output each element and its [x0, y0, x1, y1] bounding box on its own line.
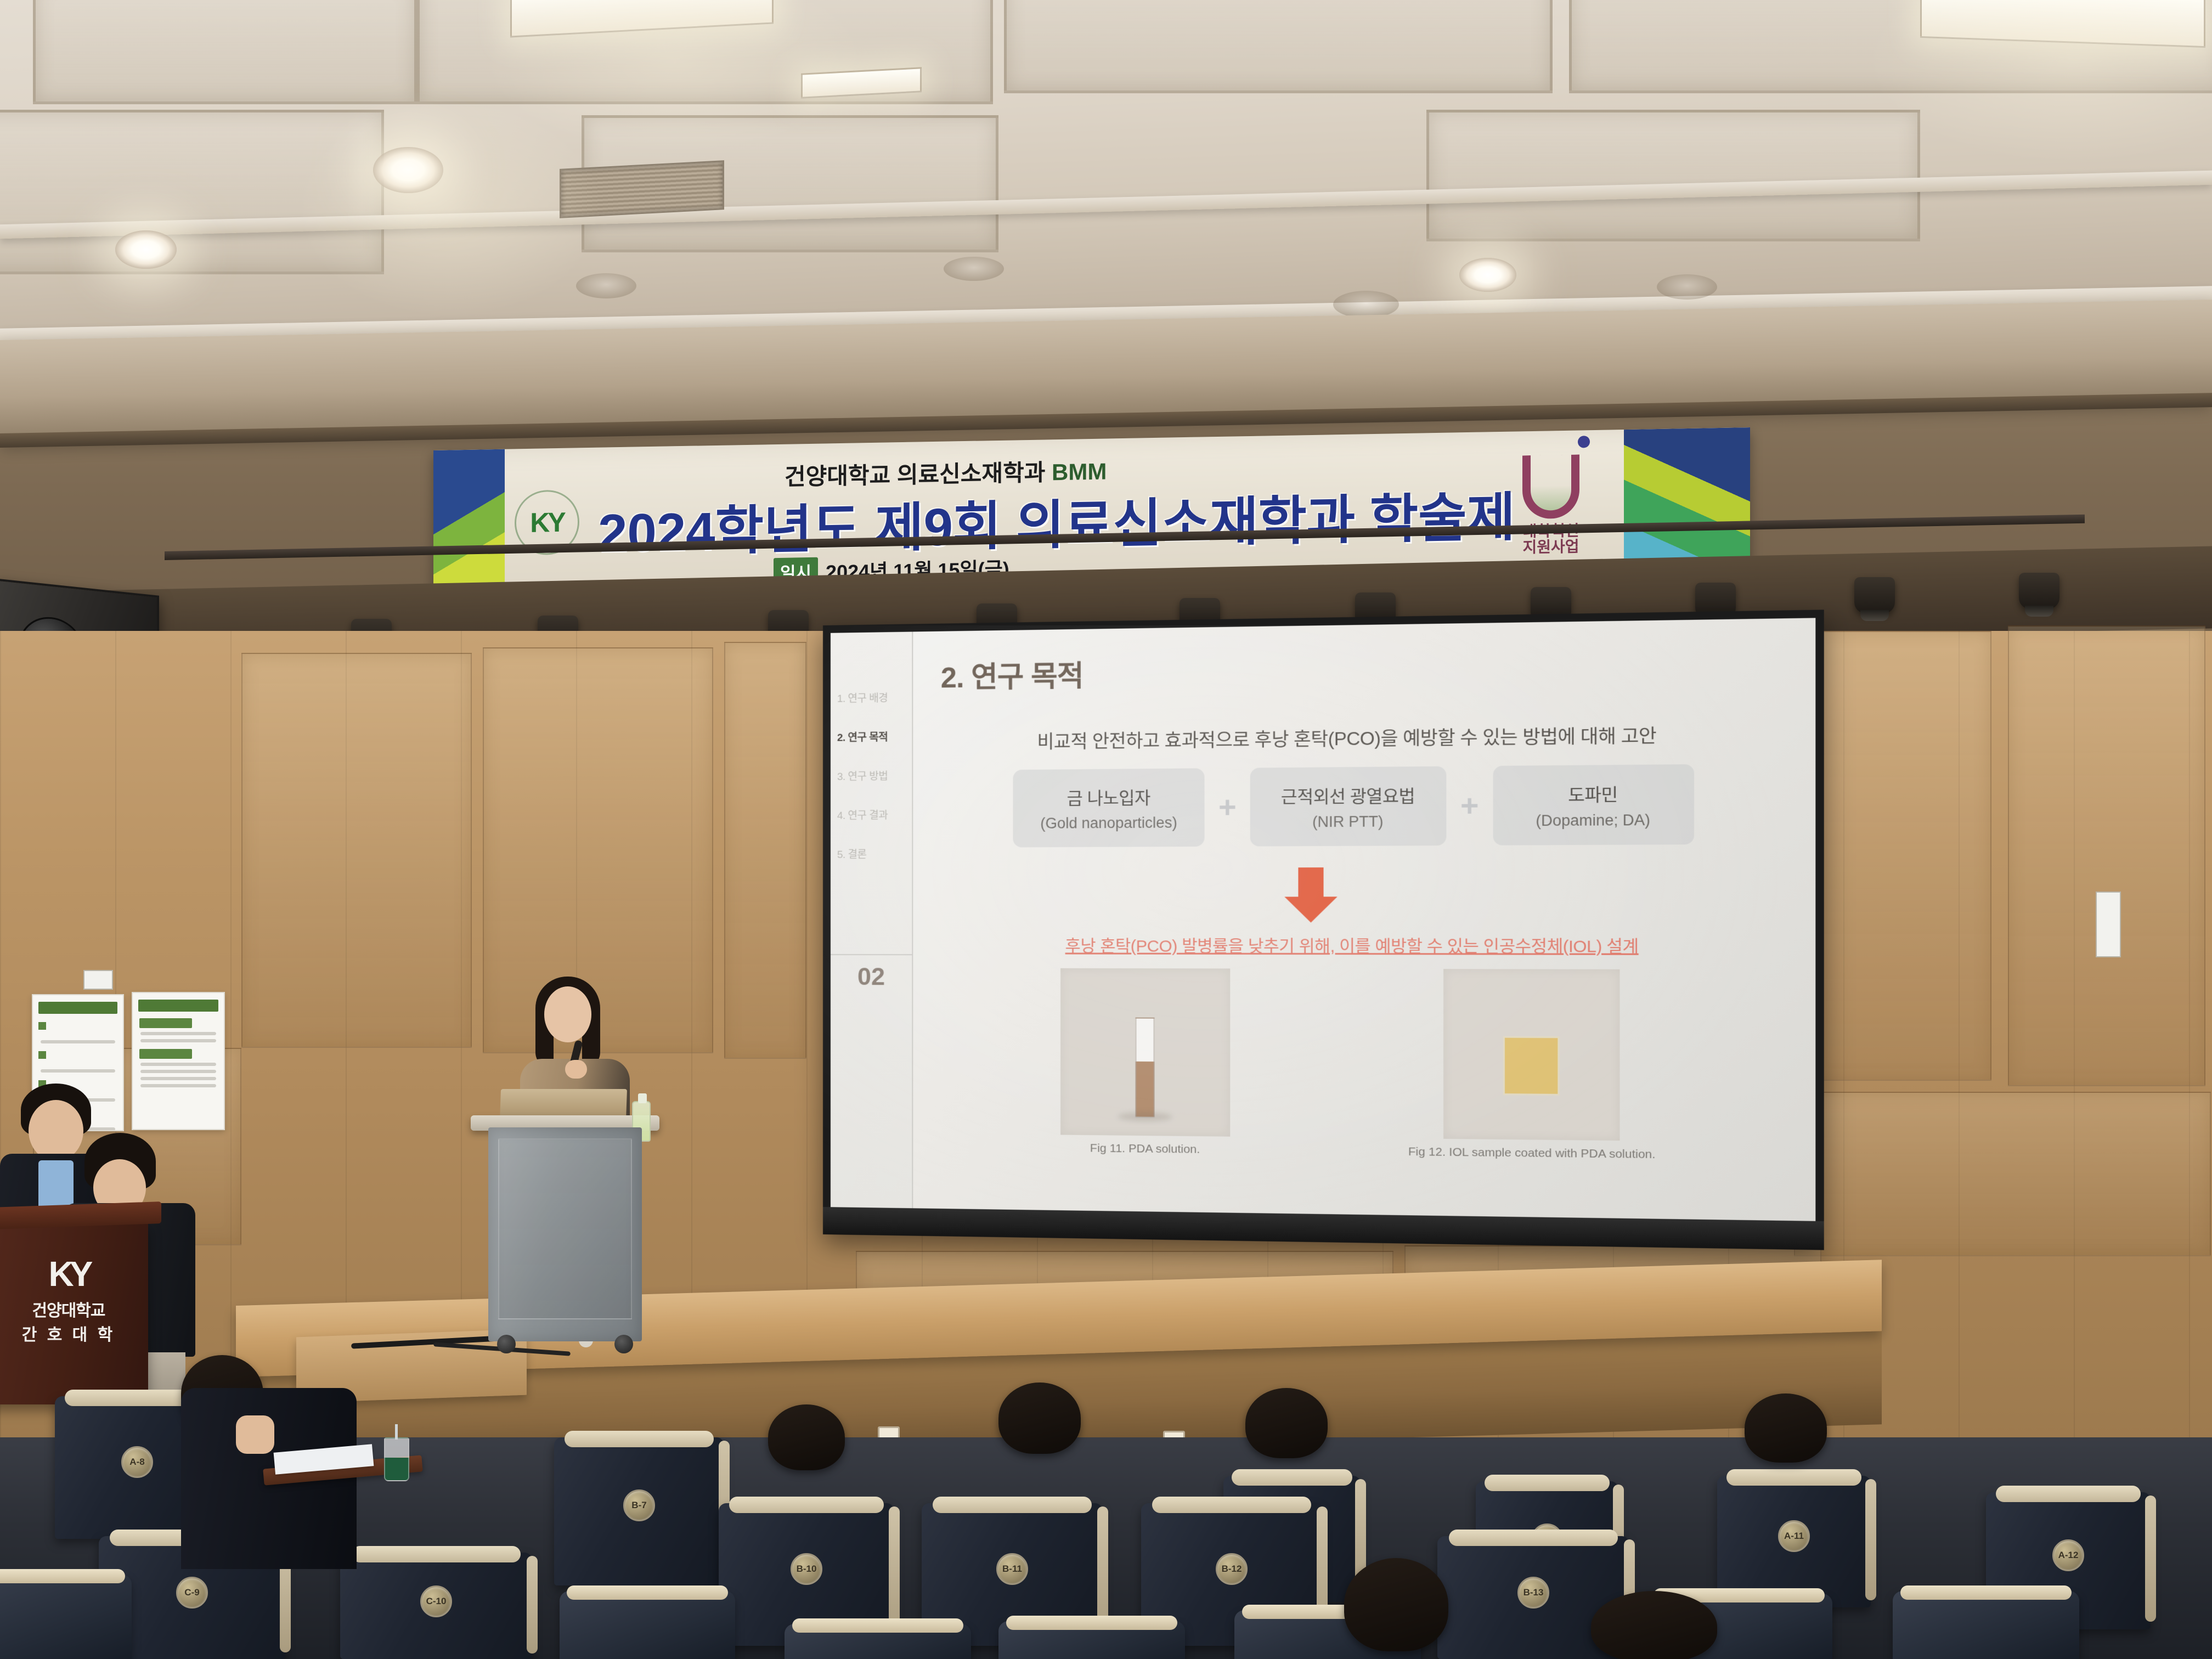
seat-headrest	[565, 1431, 714, 1447]
ceiling-downlight-ring	[1657, 274, 1717, 300]
program-logo-mark-icon	[1522, 454, 1579, 519]
seat-headrest	[1152, 1497, 1311, 1513]
university-logo-mark: KY	[0, 1256, 148, 1291]
combo-item-kr: 근적외선 광열요법	[1281, 782, 1415, 808]
program-logo-line2: 지원사업	[1522, 539, 1579, 556]
seat-number-badge: B-12	[1216, 1553, 1248, 1585]
audience-head	[1591, 1591, 1717, 1659]
auditorium-photo: KY 건양대학교 의료신소재학과 BMM 2024학년도 제9회 의료신소재학과…	[0, 0, 2212, 1659]
beverage-cup	[384, 1437, 409, 1481]
slide-figure-row: Fig 11. PDA solution. Fig 12. IOL sample…	[991, 968, 1730, 1163]
seat-number-badge: B-11	[996, 1553, 1028, 1585]
seat-A-11[interactable]: A-11	[1717, 1476, 1871, 1607]
ceiling-downlight-ring	[1333, 291, 1399, 318]
wood-panel	[2008, 625, 2205, 1086]
lectern-panel	[498, 1138, 632, 1319]
combo-item-kr: 도파민	[1568, 780, 1618, 806]
notice-text-line	[140, 1084, 216, 1087]
seat-headrest	[1726, 1469, 1861, 1486]
notice-header-bar	[138, 1000, 218, 1012]
seat-number-badge: B-10	[791, 1553, 822, 1585]
wood-panel	[1810, 631, 1991, 1081]
seat-cushion[interactable]	[560, 1591, 735, 1659]
cuvette-icon	[1135, 1018, 1154, 1118]
audience-head	[768, 1404, 845, 1470]
wood-panel	[724, 642, 806, 1059]
plus-sign-icon: +	[1218, 792, 1237, 822]
projection-screen-frame: 1. 연구 배경 2. 연구 목적 3. 연구 방법 4. 연구 결과 5. 결…	[823, 610, 1824, 1250]
ceiling-downlight	[115, 230, 177, 269]
slide-sidebar-list: 1. 연구 배경 2. 연구 목적 3. 연구 방법 4. 연구 결과 5. 결…	[831, 690, 912, 885]
sidebar-item-3: 3. 연구 방법	[837, 768, 905, 783]
stage-spotlight	[1854, 577, 1895, 613]
arrow-head	[1284, 896, 1337, 922]
slide-result-text: 후낭 혼탁(PCO) 발병률을 낮추기 위해, 이를 예방할 수 있는 인공수정…	[941, 932, 1772, 957]
seat-headrest	[1485, 1475, 1610, 1491]
seat-headrest	[352, 1546, 521, 1562]
combo-item-gold-nanoparticles: 금 나노입자 (Gold nanoparticles)	[1013, 768, 1205, 847]
seat-cushion[interactable]	[0, 1575, 132, 1659]
university-name-line1: 건양대학교	[0, 1297, 148, 1321]
slide-number: 02	[831, 962, 912, 991]
combo-item-dopamine: 도파민 (Dopamine; DA)	[1493, 764, 1694, 845]
seat-headrest	[1232, 1469, 1352, 1486]
wooden-lectern-top	[0, 1201, 161, 1230]
ceiling-downlight-ring	[576, 273, 636, 298]
seat-cushion[interactable]	[785, 1624, 971, 1659]
sidebar-divider	[831, 954, 912, 955]
notice-text-line	[140, 1077, 216, 1080]
lectern-caster-wheel	[614, 1335, 633, 1353]
presentation-slide: 1. 연구 배경 2. 연구 목적 3. 연구 방법 4. 연구 결과 5. 결…	[831, 618, 1815, 1221]
ceiling-coffer	[0, 110, 384, 274]
notice-text-line	[140, 1039, 216, 1042]
seat-headrest	[1449, 1530, 1618, 1546]
ceiling-downlight	[373, 147, 443, 193]
figure-pda-solution: Fig 11. PDA solution.	[1060, 968, 1230, 1157]
ceiling-coffer	[33, 0, 417, 104]
audience-head	[998, 1383, 1081, 1454]
sidebar-item-1: 1. 연구 배경	[837, 690, 905, 706]
seat-headrest	[933, 1497, 1092, 1513]
seat-number-badge: A-12	[2052, 1539, 2084, 1571]
notice-text-line	[41, 1069, 115, 1073]
audience-head	[1245, 1388, 1328, 1458]
arrow-stem	[1298, 867, 1323, 896]
ceiling-downlight	[1459, 258, 1516, 292]
slide-lead-text: 비교적 안전하고 효과적으로 후낭 혼탁(PCO)을 예방할 수 있는 방법에 …	[941, 719, 1760, 754]
seat-number-badge: B-13	[1517, 1577, 1549, 1609]
slide-combo-row: 금 나노입자 (Gold nanoparticles) + 근적외선 광열요법 …	[941, 764, 1772, 848]
notice-subheader-bar	[139, 1018, 192, 1028]
lectern-body	[488, 1127, 642, 1341]
audience-head	[1745, 1393, 1827, 1463]
presenter-head	[544, 986, 591, 1042]
university-name-line2: 간 호 대 학	[0, 1321, 148, 1345]
sidebar-item-2: 2. 연구 목적	[837, 729, 905, 744]
seat-number-badge: C-10	[420, 1585, 452, 1617]
audience-head	[1344, 1558, 1448, 1651]
notice-subheader-bar	[139, 1049, 192, 1059]
figure-caption: Fig 11. PDA solution.	[1090, 1142, 1200, 1156]
iol-sample-icon	[1503, 1036, 1560, 1096]
stage-spotlight	[2019, 573, 2059, 609]
wall-placard	[83, 970, 113, 990]
combo-item-en: (NIR PTT)	[1312, 813, 1383, 831]
seat-side-trim	[2145, 1496, 2156, 1622]
slide-sidebar: 1. 연구 배경 2. 연구 목적 3. 연구 방법 4. 연구 결과 5. 결…	[831, 631, 913, 1208]
cushion-edge	[1900, 1585, 2072, 1600]
cushion-edge	[792, 1618, 964, 1633]
ceiling-downlight-ring	[944, 257, 1004, 281]
notice-text-line	[41, 1040, 115, 1043]
seat-headrest	[729, 1497, 884, 1513]
seat-number-badge: A-8	[121, 1446, 153, 1478]
ceiling-coffer	[1426, 110, 1920, 241]
cushion-edge	[1006, 1616, 1178, 1630]
plus-sign-icon: +	[1460, 791, 1479, 821]
wall-notice-right	[132, 992, 225, 1130]
sidebar-item-4: 4. 연구 결과	[837, 807, 905, 822]
seat-C-10[interactable]: C-10	[340, 1553, 532, 1659]
seat-number-badge: A-11	[1778, 1520, 1810, 1552]
wood-panel	[1794, 1092, 2211, 1256]
slide-title: 2. 연구 목적	[941, 652, 1084, 696]
banner-title: 2024학년도 제9회 의료신소재학과 학술제	[598, 475, 1515, 567]
notice-header-bar	[38, 1002, 117, 1014]
cushion-edge	[567, 1585, 728, 1600]
sidebar-item-5: 5. 결론	[837, 846, 905, 861]
cuvette-shadow	[1118, 1112, 1172, 1121]
program-logo: 대학혁신 지원사업	[1499, 454, 1603, 566]
wooden-lectern: KY 건양대학교 간 호 대 학	[0, 1223, 148, 1404]
seat-B-7[interactable]: B-7	[554, 1437, 724, 1585]
seat-cushion[interactable]	[1893, 1591, 2079, 1659]
projection-screen: 1. 연구 배경 2. 연구 목적 3. 연구 방법 4. 연구 결과 5. 결…	[831, 618, 1815, 1221]
door-frame-edge	[2096, 891, 2121, 957]
seat-number-badge: C-9	[176, 1577, 208, 1609]
combo-item-en: (Gold nanoparticles)	[1040, 814, 1177, 832]
wood-panel	[241, 653, 472, 1048]
seat-side-trim	[1865, 1479, 1876, 1600]
notice-text-line	[140, 1032, 216, 1035]
seat-headrest	[1996, 1486, 2141, 1502]
figure-image-iol-sample	[1443, 969, 1620, 1141]
presenter-hand	[565, 1060, 587, 1079]
university-seal-text: KY	[530, 506, 563, 539]
figure-image-pda-solution	[1060, 968, 1230, 1137]
stage-lectern	[488, 1089, 642, 1341]
figure-caption: Fig 12. IOL sample coated with PDA solut…	[1408, 1145, 1656, 1161]
ceiling-coffer	[1004, 0, 1553, 93]
cushion-edge	[0, 1569, 125, 1583]
notice-text-line	[140, 1063, 216, 1066]
seat-cushion[interactable]	[998, 1621, 1185, 1659]
notice-bullet	[38, 1051, 46, 1059]
figure-iol-sample: Fig 12. IOL sample coated with PDA solut…	[1408, 969, 1656, 1161]
combo-item-nir-ptt: 근적외선 광열요법 (NIR PTT)	[1250, 766, 1447, 847]
seat-number-badge: B-7	[623, 1489, 655, 1521]
lectern-caster-wheel	[497, 1335, 516, 1353]
notice-bullet	[38, 1022, 46, 1030]
ceiling-air-vent	[560, 160, 724, 218]
seat-side-trim	[527, 1556, 538, 1654]
audience-hand	[236, 1415, 274, 1454]
combo-item-en: (Dopamine; DA)	[1536, 811, 1650, 830]
combo-item-kr: 금 나노입자	[1067, 784, 1150, 810]
notice-text-line	[140, 1070, 216, 1073]
wooden-lectern-logo: KY 건양대학교 간 호 대 학	[0, 1256, 148, 1345]
